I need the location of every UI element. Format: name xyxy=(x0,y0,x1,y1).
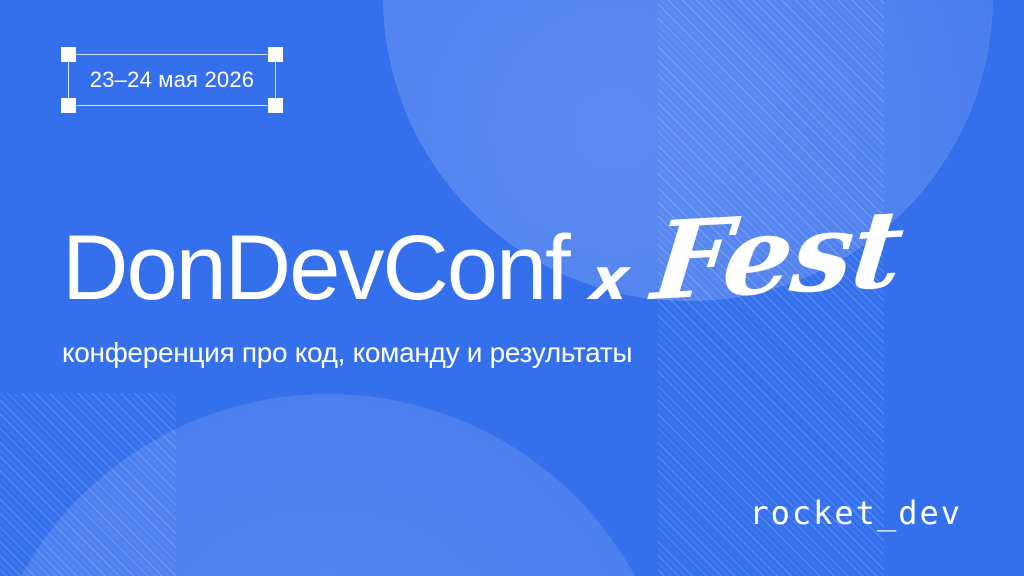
poster-canvas: 23–24 мая 2026 DonDevConf x Fest конфере… xyxy=(0,0,1024,576)
page-title-main: DonDevConf xyxy=(62,222,569,314)
page-title-script: Fest xyxy=(648,195,907,316)
circle-bottom-left-decoration xyxy=(0,394,678,576)
date-badge[interactable]: 23–24 мая 2026 xyxy=(68,54,276,106)
page-subtitle: конференция про код, команду и результат… xyxy=(62,337,632,369)
date-badge-label: 23–24 мая 2026 xyxy=(68,54,276,106)
circle-bottom-left-highlight xyxy=(0,394,678,576)
stripe-band-bottom-left-decoration xyxy=(0,393,176,576)
page-title: DonDevConf x Fest xyxy=(62,208,894,316)
brand-logo: rocket_dev xyxy=(749,494,962,532)
page-title-separator: x xyxy=(588,250,632,308)
